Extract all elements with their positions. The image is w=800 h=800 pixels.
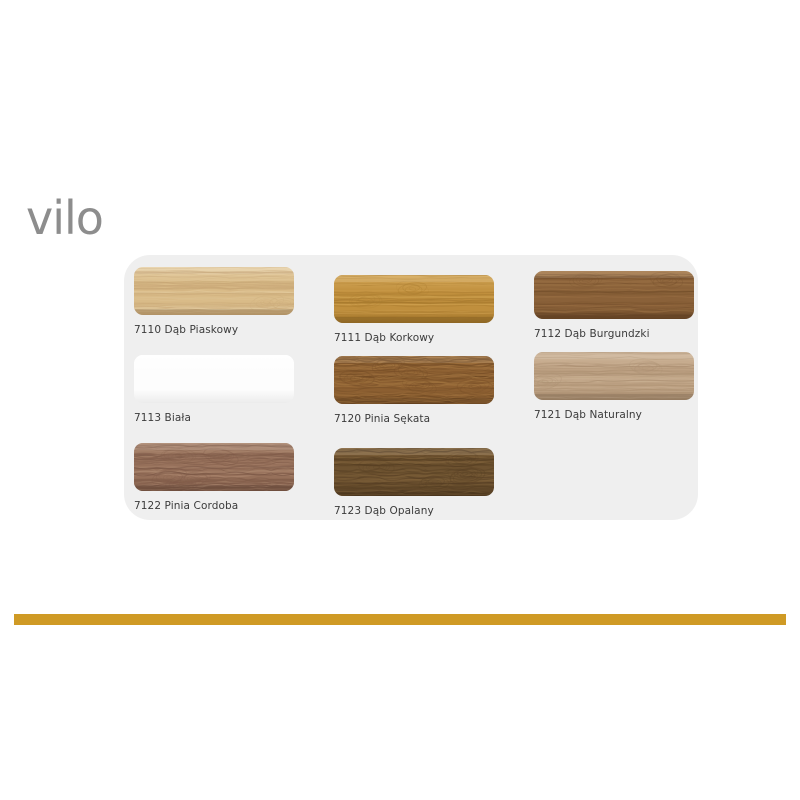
swatch-cell-7110[interactable]: 7110 Dąb Piaskowy <box>134 267 294 336</box>
swatch-cell-7111[interactable]: 7111 Dąb Korkowy <box>334 275 494 344</box>
swatch-chip-7123[interactable] <box>334 448 494 496</box>
swatch-label-7110: 7110 Dąb Piaskowy <box>134 324 294 336</box>
swatch-cell-7123[interactable]: 7123 Dąb Opalany <box>334 448 494 517</box>
swatch-label-7123: 7123 Dąb Opalany <box>334 505 494 517</box>
swatch-chip-7113[interactable] <box>134 355 294 403</box>
swatch-chip-7122[interactable] <box>134 443 294 491</box>
colour-swatch-card: 7110 Dąb Piaskowy7111 Dąb Korkowy7112 Dą… <box>124 255 698 520</box>
swatch-cell-7112[interactable]: 7112 Dąb Burgundzki <box>534 271 694 340</box>
swatch-cell-7122[interactable]: 7122 Pinia Cordoba <box>134 443 294 512</box>
swatch-chip-7112[interactable] <box>534 271 694 319</box>
vilo-logo: vilo <box>26 196 136 248</box>
swatch-label-7120: 7120 Pinia Sękata <box>334 413 494 425</box>
swatch-label-7121: 7121 Dąb Naturalny <box>534 409 694 421</box>
swatch-chip-7110[interactable] <box>134 267 294 315</box>
swatch-cell-7121[interactable]: 7121 Dąb Naturalny <box>534 352 694 421</box>
swatch-label-7111: 7111 Dąb Korkowy <box>334 332 494 344</box>
vilo-logo-text: vilo <box>26 196 103 245</box>
swatch-chip-7121[interactable] <box>534 352 694 400</box>
swatch-chip-7120[interactable] <box>334 356 494 404</box>
swatch-cell-7120[interactable]: 7120 Pinia Sękata <box>334 356 494 425</box>
swatch-label-7122: 7122 Pinia Cordoba <box>134 500 294 512</box>
footer-accent-bar <box>14 614 786 625</box>
swatch-label-7113: 7113 Biała <box>134 412 294 424</box>
swatch-cell-7113[interactable]: 7113 Biała <box>134 355 294 424</box>
swatch-chip-7111[interactable] <box>334 275 494 323</box>
swatch-grid: 7110 Dąb Piaskowy7111 Dąb Korkowy7112 Dą… <box>124 255 698 520</box>
swatch-label-7112: 7112 Dąb Burgundzki <box>534 328 694 340</box>
